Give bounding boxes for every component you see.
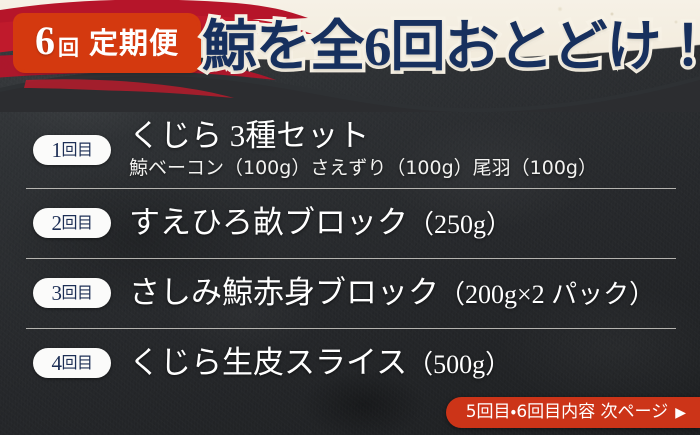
delivery-unit: 回目 xyxy=(61,286,92,302)
badge-label: 定期便 xyxy=(89,30,179,59)
list-item: 1 回目 くじら 3種セット 鯨ベーコン（100g）さえずり（100g）尾羽（1… xyxy=(0,112,700,188)
delivery-number: 4 xyxy=(51,353,61,374)
list-item-text: くじら 3種セット 鯨ベーコン（100g）さえずり（100g）尾羽（100g） xyxy=(129,119,597,180)
subscription-count-badge: 6 回 定期便 xyxy=(16,16,198,70)
badge-number: 6 xyxy=(35,21,54,61)
delivery-unit: 回目 xyxy=(61,356,92,372)
item-title-line: すえひろ畝ブロック（250g） xyxy=(129,206,512,241)
delivery-number: 2 xyxy=(51,213,61,234)
list-item-text: すえひろ畝ブロック（250g） xyxy=(129,206,512,241)
delivery-unit: 回目 xyxy=(61,216,92,232)
subscription-banner: 6 回 定期便 鯨を全6回おとどけ！ 1 回目 くじら 3種セット 鯨ベーコン（… xyxy=(0,0,700,435)
list-item: 3 回目 さしみ鯨赤身ブロック（200g×2 パック） xyxy=(0,258,700,328)
delivery-number: 3 xyxy=(51,283,61,304)
delivery-number: 1 xyxy=(51,140,61,161)
item-amount: （200g×2 パック） xyxy=(439,280,655,309)
delivery-number-badge: 3 回目 xyxy=(33,278,111,308)
item-title: すえひろ畝ブロック xyxy=(129,205,408,240)
delivery-number-badge: 4 回目 xyxy=(33,348,111,378)
item-subtitle: 鯨ベーコン（100g）さえずり（100g）尾羽（100g） xyxy=(129,157,597,181)
delivery-unit: 回目 xyxy=(61,143,92,159)
header-area: 6 回 定期便 鯨を全6回おとどけ！ xyxy=(0,0,700,112)
item-title-line: さしみ鯨赤身ブロック（200g×2 パック） xyxy=(129,276,655,311)
item-title: さしみ鯨赤身ブロック xyxy=(129,275,439,310)
delivery-number-badge: 2 回目 xyxy=(33,208,111,238)
item-amount: （250g） xyxy=(408,210,512,239)
arrow-right-icon: ▶ xyxy=(675,406,686,420)
badge-counter: 回 xyxy=(58,38,79,59)
item-title-line: くじら生皮スライス（500g） xyxy=(129,346,511,381)
list-item: 4 回目 くじら生皮スライス（500g） xyxy=(0,328,700,398)
item-amount: （500g） xyxy=(407,350,511,379)
course-list: 1 回目 くじら 3種セット 鯨ベーコン（100g）さえずり（100g）尾羽（1… xyxy=(0,112,700,398)
list-item: 2 回目 すえひろ畝ブロック（250g） xyxy=(0,188,700,258)
item-title: くじら生皮スライス xyxy=(129,345,407,380)
next-page-label: 5回目・6回目内容 次ページ xyxy=(466,404,668,421)
page-title: 鯨を全6回おとどけ！ xyxy=(202,19,700,74)
list-item-text: くじら生皮スライス（500g） xyxy=(129,346,511,381)
list-item-text: さしみ鯨赤身ブロック（200g×2 パック） xyxy=(129,276,655,311)
item-title: くじら 3種セット xyxy=(129,119,597,154)
delivery-number-badge: 1 回目 xyxy=(33,135,111,165)
next-page-button[interactable]: 5回目・6回目内容 次ページ ▶ xyxy=(446,397,700,428)
